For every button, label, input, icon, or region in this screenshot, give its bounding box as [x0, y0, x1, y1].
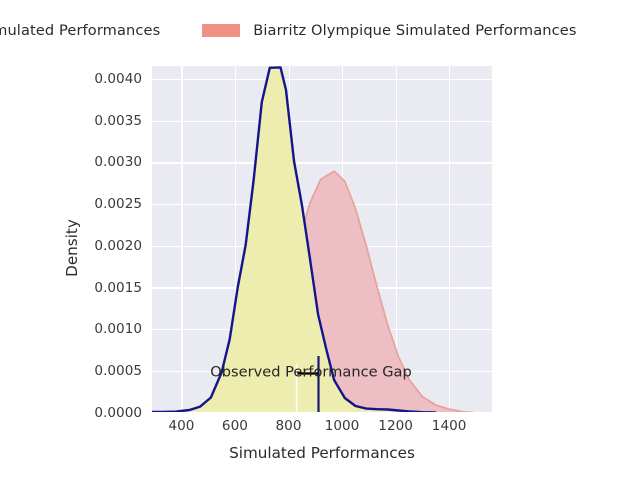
xtick-label-1200: 1200: [378, 418, 413, 434]
xtick-label-800: 800: [276, 418, 302, 434]
kde-curves: [152, 66, 492, 412]
legend-entry-nevers[interactable]: SON Nevers Simulated Performances: [0, 22, 160, 39]
ytick-label-0.0035: 0.0035: [94, 113, 142, 129]
figure-canvas: SON Nevers Simulated Performances Biarri…: [0, 0, 640, 480]
xtick-label-400: 400: [168, 418, 194, 434]
ytick-label-0.0010: 0.0010: [94, 321, 142, 337]
legend-entry-biarritz[interactable]: Biarritz Olympique Simulated Performance…: [202, 22, 576, 39]
plot-area: Observed Performance Gap: [152, 66, 492, 412]
legend-label-biarritz: Biarritz Olympique Simulated Performance…: [253, 22, 576, 39]
ytick-label-0.0025: 0.0025: [94, 196, 142, 212]
ytick-label-0.0015: 0.0015: [94, 280, 142, 296]
xtick-label-1400: 1400: [432, 418, 467, 434]
ytick-label-0.0030: 0.0030: [94, 154, 142, 170]
xtick-label-600: 600: [222, 418, 248, 434]
legend: SON Nevers Simulated Performances Biarri…: [0, 16, 640, 44]
legend-swatch-biarritz: [202, 24, 240, 37]
ytick-label-0.0000: 0.0000: [94, 405, 142, 421]
ytick-label-0.0040: 0.0040: [94, 71, 142, 87]
legend-label-nevers: SON Nevers Simulated Performances: [0, 22, 160, 39]
x-axis-label: Simulated Performances: [152, 444, 492, 462]
xtick-label-1000: 1000: [325, 418, 360, 434]
y-axis-label: Density: [63, 168, 81, 328]
ytick-label-0.0020: 0.0020: [94, 238, 142, 254]
ytick-label-0.0005: 0.0005: [94, 363, 142, 379]
